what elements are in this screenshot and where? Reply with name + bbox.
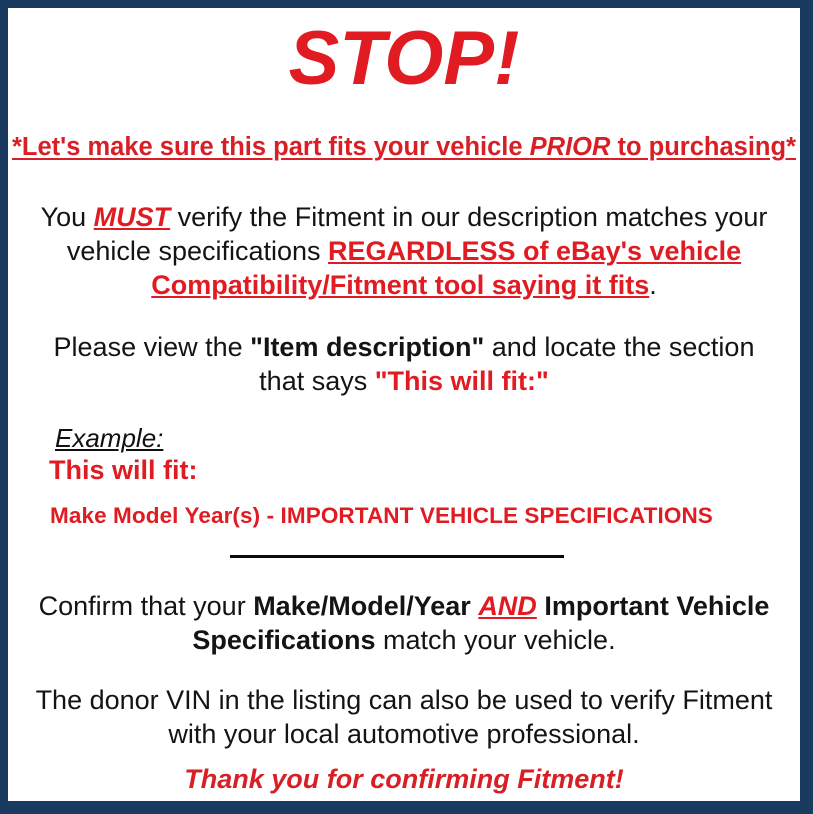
example-fit-heading: This will fit:: [49, 454, 198, 487]
subheadline-emphasis-prior: PRIOR: [530, 133, 611, 161]
view-seg-1: Please view the: [54, 332, 251, 362]
paragraph-donor-vin: The donor VIN in the listing can also be…: [30, 683, 778, 751]
must-seg-3: .: [649, 270, 657, 300]
subheadline-after: to purchasing*: [610, 133, 796, 161]
confirm-seg-4: match your vehicle.: [375, 625, 615, 655]
section-divider: [230, 555, 564, 558]
notice-inner-panel: STOP! *Let's make sure this part fits yo…: [8, 8, 800, 801]
subheadline-before: *Let's make sure this part fits your veh…: [12, 133, 530, 161]
must-emphasis-word: MUST: [94, 202, 171, 232]
view-emphasis-item-description: "Item description": [250, 332, 484, 362]
must-seg-1: You: [41, 202, 94, 232]
confirm-seg-1: Confirm that your: [39, 591, 254, 621]
thank-you-message: Thank you for confirming Fitment!: [8, 762, 800, 796]
page-title: STOP!: [8, 16, 800, 102]
paragraph-item-description: Please view the "Item description" and l…: [30, 330, 778, 398]
subheadline: *Let's make sure this part fits your veh…: [8, 130, 800, 164]
view-emphasis-this-will-fit: "This will fit:": [375, 366, 549, 396]
fitment-notice-card: STOP! *Let's make sure this part fits yo…: [0, 0, 813, 814]
paragraph-must-verify: You MUST verify the Fitment in our descr…: [30, 200, 778, 302]
confirm-emphasis-and: AND: [478, 591, 537, 621]
example-spec-line: Make Model Year(s) - IMPORTANT VEHICLE S…: [50, 502, 713, 530]
confirm-emphasis-make-model-year: Make/Model/Year: [253, 591, 471, 621]
example-label: Example:: [55, 422, 163, 454]
paragraph-confirm: Confirm that your Make/Model/Year AND Im…: [30, 589, 778, 657]
